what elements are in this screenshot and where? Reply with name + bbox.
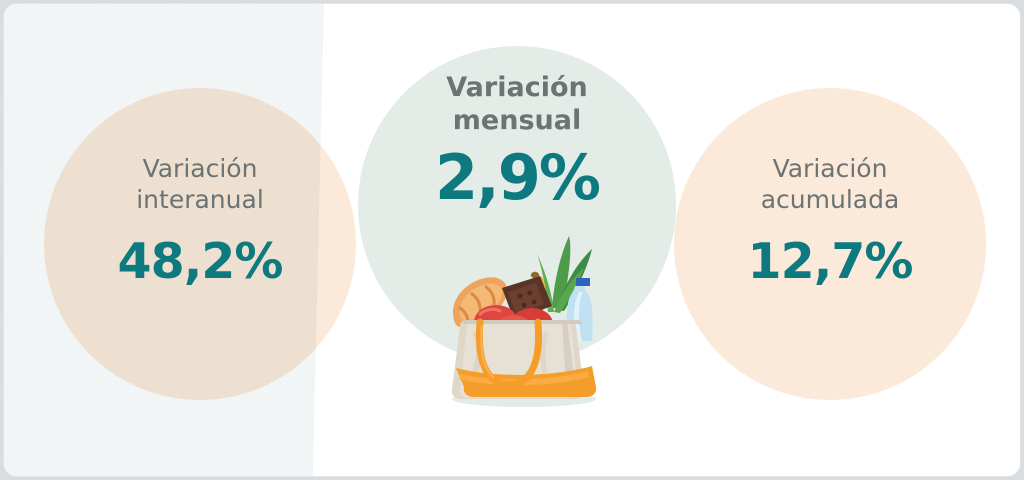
metric-circle-interanual bbox=[44, 88, 356, 400]
infographic-card: Variación interanual 48,2% Variación men… bbox=[3, 3, 1021, 477]
metric-circle-acumulada bbox=[674, 88, 986, 400]
grocery-bag-icon bbox=[436, 216, 612, 412]
